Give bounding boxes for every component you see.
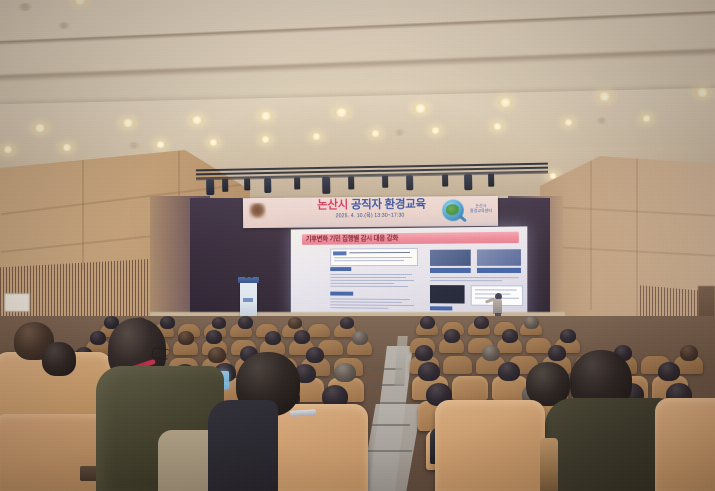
attendee-head xyxy=(178,331,194,345)
stage-light-fixture xyxy=(222,179,228,192)
banner-title-part1: 논산시 xyxy=(317,199,348,211)
slide-body xyxy=(302,247,519,314)
attendee-head xyxy=(352,331,368,345)
attendee-head xyxy=(524,316,539,329)
slide-chart-panel xyxy=(430,285,465,303)
wall-panel-seam xyxy=(540,245,715,256)
slide-text-line xyxy=(430,277,519,278)
downlight-icon xyxy=(492,123,503,130)
event-banner: 논산시 공직자 환경교육 2025. 4. 10.(목) 13:30~17:30… xyxy=(243,196,498,228)
slide-text-line xyxy=(330,286,408,287)
banner-title-part2: 공직자 환경교육 xyxy=(351,199,426,212)
slide-text-line xyxy=(334,257,412,258)
slide-photo-caption xyxy=(477,268,521,273)
slide-text-line xyxy=(349,252,410,253)
slide-photo-thumbnail xyxy=(430,250,471,266)
slide-text-line xyxy=(475,289,517,290)
attendee-head xyxy=(294,330,310,344)
attendee-head xyxy=(482,345,500,361)
stage-light-fixture xyxy=(206,179,214,195)
stage-light-fixture xyxy=(464,174,472,190)
wall-panel-seam xyxy=(636,156,638,316)
magnifier-handle-icon xyxy=(459,215,467,222)
attendee-head xyxy=(212,317,226,329)
downlight-icon xyxy=(334,108,349,117)
attendee-head xyxy=(306,347,324,363)
auditorium-photo: 논산시 공직자 환경교육 2025. 4. 10.(목) 13:30~17:30… xyxy=(0,0,715,491)
downlight-icon xyxy=(128,142,140,149)
downlight-icon xyxy=(430,127,441,134)
attendee-head xyxy=(42,342,76,376)
attendee-head xyxy=(238,316,253,329)
seat xyxy=(308,324,330,337)
attendee-head xyxy=(415,345,433,361)
wall-panel-seam xyxy=(82,150,84,270)
stage-light-fixture xyxy=(382,176,388,188)
city-emblem-logo-icon xyxy=(249,203,266,219)
downlight-icon xyxy=(72,0,88,5)
center-aisle-lower xyxy=(360,404,422,491)
attendee-head xyxy=(560,329,576,343)
attendee-head xyxy=(502,329,518,343)
attendee-head xyxy=(474,316,489,329)
downlight-icon xyxy=(370,130,381,137)
attendee-head xyxy=(334,363,356,382)
slide-box-header xyxy=(333,251,346,255)
stage-light-fixture xyxy=(406,175,413,190)
downlight-icon xyxy=(260,136,271,143)
stage-light-fixture xyxy=(442,175,448,187)
wall-panel-seam xyxy=(590,160,592,310)
slide-left-box xyxy=(330,248,418,266)
downlight-icon xyxy=(597,92,612,101)
downlight-icon xyxy=(155,141,166,148)
downlight-icon xyxy=(18,3,32,11)
seat xyxy=(435,400,545,491)
lectern-top xyxy=(238,277,259,283)
slide-text-line xyxy=(334,260,404,261)
slide-title: 기후변화 기민 집행별 감시 대응 강화 xyxy=(306,233,517,245)
downlight-icon xyxy=(190,116,204,124)
downlight-icon xyxy=(259,112,273,120)
stage-light-fixture xyxy=(348,176,354,189)
slide-text-line xyxy=(330,277,406,278)
ceiling-seam-upper xyxy=(0,9,715,46)
lectern-emblem xyxy=(243,298,253,302)
attendee-head xyxy=(288,317,302,329)
attendee-head xyxy=(265,331,281,345)
attendee-head xyxy=(206,330,222,344)
downlight-icon xyxy=(394,129,405,136)
downlight-icon xyxy=(58,22,70,29)
downlight-icon xyxy=(208,139,219,146)
stage-light-fixture xyxy=(294,177,300,189)
downlight-icon xyxy=(641,115,652,122)
seat xyxy=(655,398,715,491)
slide-text-line xyxy=(330,283,394,284)
attendee-head xyxy=(208,347,226,363)
slide-text-line xyxy=(330,274,412,275)
attendee-torso xyxy=(208,400,278,491)
slide-section-tag xyxy=(330,267,351,271)
downlight-icon xyxy=(2,146,14,153)
ceiling-seam-lower xyxy=(0,47,715,83)
seat xyxy=(452,376,488,400)
downlight-icon xyxy=(413,104,428,113)
attendee-head xyxy=(420,316,435,329)
slide-section-tag xyxy=(330,292,353,296)
slide-text-line xyxy=(330,304,414,306)
banner-organizer: 논산시 환경교육센터 xyxy=(466,203,496,213)
downlight-icon xyxy=(61,144,73,151)
banner-date: 2025. 4. 10.(목) 13:30~17:30 xyxy=(295,211,445,219)
slide-text-line xyxy=(330,298,410,300)
slide-photo-caption xyxy=(430,268,471,273)
attendee-head xyxy=(498,362,520,381)
presenter-torso xyxy=(493,299,502,314)
attendee-head xyxy=(548,345,566,361)
downlight-icon xyxy=(311,133,322,140)
aisle-step xyxy=(364,424,410,426)
slide-section-tag xyxy=(430,306,452,310)
attendee-head xyxy=(418,362,440,381)
downlight-icon xyxy=(498,98,513,107)
seat xyxy=(0,414,108,491)
attendee-head xyxy=(658,362,680,381)
stage-light-fixture xyxy=(244,178,250,190)
banner-org-line2: 환경교육센터 xyxy=(466,208,496,213)
slide-text-line xyxy=(330,280,414,281)
wall-panel-seam xyxy=(540,205,715,216)
attendee-head xyxy=(680,345,698,361)
stage-light-fixture xyxy=(264,178,271,193)
attendee-head xyxy=(90,331,106,345)
downlight-icon xyxy=(596,117,607,124)
attendee-head xyxy=(340,317,354,329)
stage-light-fixture xyxy=(322,177,330,194)
slide-text-line xyxy=(330,301,402,303)
aisle-step xyxy=(368,402,408,404)
eyeglasses-icon xyxy=(151,347,169,360)
downlight-icon xyxy=(563,119,574,126)
attendee-head xyxy=(444,329,460,343)
wall-notice-sign xyxy=(4,293,30,312)
slide-text-line xyxy=(430,280,502,281)
attendee-head xyxy=(160,316,175,329)
stage-light-fixture xyxy=(488,174,494,187)
slide-text-line xyxy=(330,307,388,309)
slide-photo-thumbnail xyxy=(477,249,521,266)
downlight-icon xyxy=(695,88,710,97)
seat xyxy=(443,356,472,374)
seat-armrest xyxy=(540,438,558,491)
downlight-icon xyxy=(33,124,47,132)
downlight-icon xyxy=(121,119,135,127)
